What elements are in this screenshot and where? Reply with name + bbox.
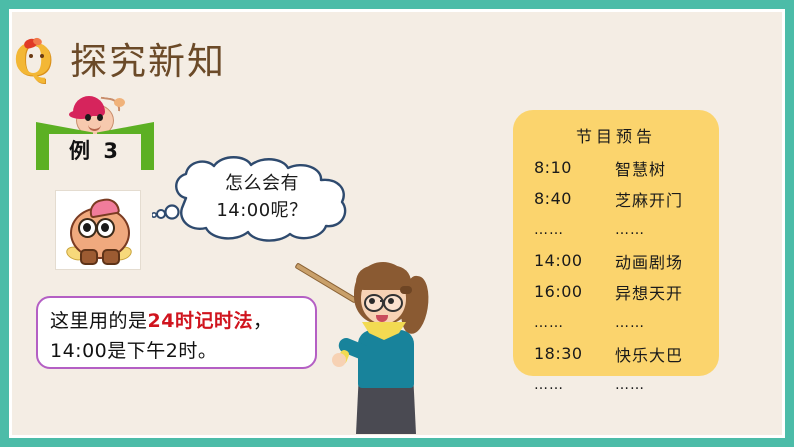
peach-pupil-left xyxy=(83,223,91,232)
statement-text: 这里用的是24时记时法， 14:00是下午2时。 xyxy=(50,306,308,366)
ladybug-antenna-ball-icon xyxy=(114,98,125,107)
schedule-row: 18:30快乐大巴 xyxy=(513,338,719,369)
ladybug-eye-left-icon xyxy=(85,114,91,121)
teacher-hair-tie-icon xyxy=(400,286,412,294)
schedule-row-time: 18:30 xyxy=(513,344,603,363)
schedule-title: 节目预告 xyxy=(513,123,719,147)
teacher-glasses-bridge-icon xyxy=(380,300,385,302)
statement-prefix: 这里用的是 xyxy=(50,310,148,332)
page-title-row: Q 探究新知 xyxy=(14,30,226,86)
peach-foot-right-icon xyxy=(102,249,120,265)
thought-bubble-text: 怎么会有 14:00呢？ xyxy=(178,170,346,224)
schedule-row-name: 芝麻开门 xyxy=(603,187,719,211)
example-badge: 例 3 xyxy=(36,96,154,170)
schedule-row: 14:00动画剧场 xyxy=(513,245,719,276)
schedule-rows: 8:10智慧树8:40芝麻开门…………14:00动画剧场16:00异想天开………… xyxy=(513,152,719,400)
thought-bubble: 怎么会有 14:00呢？ xyxy=(152,152,368,246)
open-book-icon: 例 3 xyxy=(36,122,154,170)
schedule-row-time: 8:40 xyxy=(513,189,603,208)
q-letter: Q xyxy=(14,40,58,82)
statement-line-2: 14:00是下午2时。 xyxy=(50,340,217,362)
schedule-row: ………… xyxy=(513,307,719,338)
thought-line-2: 14:00呢？ xyxy=(178,197,346,224)
schedule-row-name: 异想天开 xyxy=(603,280,719,304)
peach-pupil-right xyxy=(101,223,109,232)
schedule-row-time: …… xyxy=(513,222,603,238)
schedule-row: 8:40芝麻开门 xyxy=(513,183,719,214)
peach-foot-left-icon xyxy=(80,249,98,265)
example-label: 例 3 xyxy=(49,135,141,165)
q-eye-right-icon xyxy=(40,54,44,58)
peach-character-box xyxy=(55,190,141,270)
teacher-hand-icon xyxy=(332,353,346,367)
thought-line-1: 怎么会有 xyxy=(225,173,299,194)
teacher-eye-right-icon xyxy=(388,298,394,304)
q-mascot-icon: Q xyxy=(14,34,60,82)
peach-eye-right-icon xyxy=(96,218,115,238)
schedule-row-name: …… xyxy=(603,377,719,393)
schedule-row-name: 智慧树 xyxy=(603,156,719,180)
statement-callout-box: 这里用的是24时记时法， 14:00是下午2时。 xyxy=(36,296,317,369)
schedule-row-time: …… xyxy=(513,377,603,393)
tv-schedule-panel: 节目预告 8:10智慧树8:40芝麻开门…………14:00动画剧场16:00异想… xyxy=(513,110,719,376)
statement-suffix: ， xyxy=(253,310,273,332)
schedule-row: ………… xyxy=(513,214,719,245)
schedule-row-name: …… xyxy=(603,222,719,238)
schedule-row-time: 14:00 xyxy=(513,251,603,270)
slide-canvas: Q 探究新知 例 3 xyxy=(0,0,794,447)
peach-eye-left-icon xyxy=(78,218,97,238)
teacher-eye-left-icon xyxy=(369,298,375,304)
schedule-row: 8:10智慧树 xyxy=(513,152,719,183)
schedule-row-time: …… xyxy=(513,315,603,331)
schedule-row-time: 8:10 xyxy=(513,158,603,177)
schedule-row-name: 快乐大巴 xyxy=(603,342,719,366)
teacher-skirt-icon xyxy=(356,384,416,434)
schedule-row-name: 动画剧场 xyxy=(603,249,719,273)
statement-highlight: 24时记时法 xyxy=(148,310,253,332)
schedule-row: ………… xyxy=(513,369,719,400)
ladybug-eye-right-icon xyxy=(97,114,103,121)
schedule-row-time: 16:00 xyxy=(513,282,603,301)
page-title: 探究新知 xyxy=(70,31,226,85)
schedule-row-name: …… xyxy=(603,315,719,331)
schedule-row: 16:00异想天开 xyxy=(513,276,719,307)
teacher-figure-icon xyxy=(330,258,448,436)
q-eye-left-icon xyxy=(29,54,33,58)
